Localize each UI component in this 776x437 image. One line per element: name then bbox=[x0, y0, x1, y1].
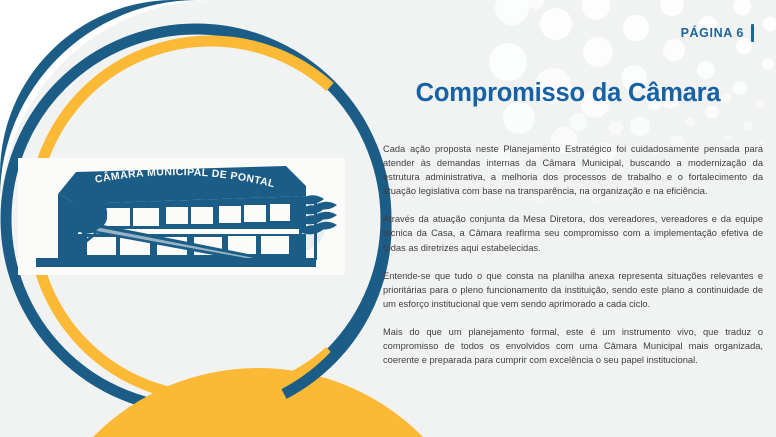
slide-compromisso-da-camara: PÁGINA 6 Compromisso da Câmara Cada ação… bbox=[0, 0, 776, 437]
camara-municipal-building-illustration: CÂMARA MUNICIPAL DE PONTAL DO PARANÁ bbox=[18, 158, 345, 275]
page-number-label: PÁGINA 6 bbox=[681, 26, 744, 40]
paragraph-3: Entende-se que tudo o que consta na plan… bbox=[383, 269, 763, 311]
paragraph-1: Cada ação proposta neste Planejamento Es… bbox=[383, 142, 763, 198]
vertical-bar-marker-icon bbox=[751, 24, 754, 42]
page-number: PÁGINA 6 bbox=[681, 24, 754, 42]
paragraph-2: Através da atuação conjunta da Mesa Dire… bbox=[383, 212, 763, 254]
body-copy: Cada ação proposta neste Planejamento Es… bbox=[383, 142, 763, 367]
page-title: Compromisso da Câmara bbox=[380, 79, 756, 108]
paragraph-4: Mais do que um planejamento formal, este… bbox=[383, 325, 763, 367]
building-illustration-svg: CÂMARA MUNICIPAL DE PONTAL DO PARANÁ bbox=[18, 158, 345, 275]
